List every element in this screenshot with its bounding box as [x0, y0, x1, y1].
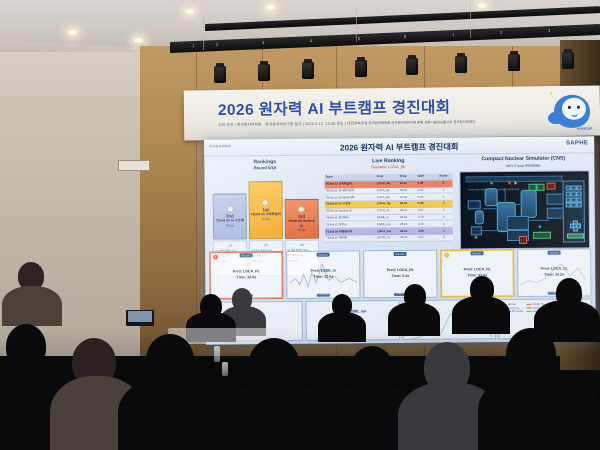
status-indicator-yellow — [514, 182, 516, 184]
cell-score: 1 — [435, 228, 453, 234]
cell-team: TEAM 07 원전AI — [325, 222, 376, 228]
detail-header: 3위 — [287, 242, 316, 246]
cell-time: 24.0s — [399, 228, 417, 234]
truss-number: 1 — [452, 32, 454, 37]
stage-light — [406, 58, 418, 75]
col-time: Time — [399, 174, 417, 180]
podium-place-third: 3rd TEAM 06 Nuclear AI 25 pts — [284, 199, 319, 239]
cell-time: 30.0s — [399, 201, 417, 207]
aux-green-box-icon — [529, 184, 537, 191]
truss-number: 5 — [358, 36, 360, 41]
lower-card[interactable]: Pred: ESDE_out Time: 2.0s — [306, 300, 400, 341]
legend-item: SGTR_Loop1 — [501, 310, 523, 313]
steam-generator-a-icon — [521, 190, 537, 218]
cell-team: TEAM 01 원자로지킴이 — [325, 188, 376, 194]
live-ranking-scenario: Scenario: LOCA_HL — [324, 165, 452, 170]
mascot-label: KORECOP — [577, 127, 592, 131]
live-ranking-table: Team Pred Time Conf Score TEAM 03 고속학습러 … — [324, 174, 453, 243]
truss-number: 2 — [216, 41, 218, 46]
aux-green-box-icon — [537, 184, 545, 191]
rank-badge: 2 — [444, 253, 449, 258]
lower-card[interactable] — [210, 301, 304, 342]
sparkline-chart — [403, 300, 495, 340]
cell-team: TEAM 11 안전제어 — [325, 215, 376, 221]
saphe-logo: SAPHE — [566, 140, 588, 146]
ceiling-downlight — [68, 30, 77, 35]
cell-score: 2 — [435, 207, 453, 213]
pressurizer-icon — [475, 210, 484, 224]
audience-shoulders — [0, 358, 76, 450]
screen-header-bar: 한국원자력학회 2026 원자력 AI 부트캠프 경진대회 SAPHE — [204, 136, 594, 156]
coolant-pipe — [527, 220, 549, 221]
cell-score: 3 — [435, 201, 453, 207]
control-button[interactable] — [577, 197, 582, 202]
card-round-tab: Round 5 — [240, 253, 253, 257]
containment-alarm-icon — [519, 236, 527, 244]
control-button[interactable] — [571, 197, 576, 202]
podium-team: TEAM 06 Nuclear AI — [286, 219, 316, 227]
live-ranking-title: Live Ranking — [324, 158, 452, 165]
stage-light — [455, 56, 467, 73]
stage-light — [562, 52, 574, 69]
prediction-card[interactable]: Round 5 2 Pred: LOCA_HL Time: 33.0s TEAM… — [440, 249, 514, 298]
podium: 2nd TEAM 09 AI 구조대 28 pts 1st TEAM 03 고속… — [212, 175, 319, 240]
card-prediction: Pred: LOCA_HL — [364, 268, 436, 273]
projection-screen: 한국원자력학회 2026 원자력 AI 부트캠프 경진대회 SAPHE Rank… — [204, 136, 596, 344]
ceiling-downlight — [134, 38, 143, 43]
cell-conf: 0.79 — [417, 214, 435, 220]
card-time: Time: 34.2s — [518, 272, 590, 277]
coolant-pipe — [505, 188, 506, 208]
cell-conf: 0.68 — [417, 228, 435, 234]
card-prediction: Pred: LOCA_HL — [441, 267, 513, 272]
stage-light — [508, 54, 520, 71]
operator-control-panel[interactable] — [562, 180, 585, 242]
coolant-pipe — [480, 230, 506, 231]
audience-shoulders — [478, 372, 600, 450]
cell-conf: 0.90 — [417, 201, 435, 207]
turbine-icon — [507, 216, 529, 230]
control-button[interactable] — [571, 185, 576, 190]
cell-time: 33.0s — [399, 181, 417, 187]
water-bottle — [222, 362, 228, 376]
truss-number: 4 — [310, 38, 312, 43]
podium-place-second: 2nd TEAM 09 AI 구조대 28 pts — [213, 193, 248, 239]
prediction-card[interactable]: Round 5 Pred: ESDE_in Time: 32.0s TEAM 0… — [286, 250, 360, 299]
cell-time: 25.0s — [399, 221, 417, 227]
alarm-box-icon — [547, 183, 556, 190]
screen-title: 2026 원자력 AI 부트캠프 경진대회 — [204, 139, 594, 154]
truss-number: 1 — [192, 42, 194, 47]
prediction-card[interactable]: Round 5 Pred: LOCA_CL Time: 34.2s TEAM 0… — [517, 248, 591, 297]
cell-team: TEAM 12 딥러닝원자력 — [325, 195, 376, 201]
audience-shoulders — [398, 382, 500, 450]
control-button[interactable] — [571, 191, 576, 196]
cell-pred: ESDE_out — [376, 221, 399, 227]
cell-time: 30.1s — [399, 208, 417, 214]
control-button[interactable] — [565, 197, 570, 202]
card-team-label: TEAM 06 — [548, 291, 561, 294]
coolant-pipe — [513, 204, 523, 205]
card-time: Time: 33.0s — [210, 275, 282, 280]
dpad-icon[interactable] — [570, 220, 579, 229]
control-button[interactable] — [565, 203, 570, 208]
wall-sign — [118, 160, 150, 171]
cell-conf: 0.72 — [417, 221, 435, 227]
col-pred: Pred — [376, 174, 399, 180]
stage-light — [214, 66, 226, 83]
ceiling-downlight — [478, 3, 487, 8]
cell-score: 2 — [435, 214, 453, 220]
control-button[interactable] — [577, 185, 582, 190]
cell-pred: SGTR_L1 — [376, 235, 399, 241]
status-indicator-green — [490, 182, 492, 184]
card-round-tab: Round 5 — [394, 252, 407, 256]
cell-time: 32.0s — [399, 187, 417, 193]
card-time: Time: 2.0s — [307, 315, 398, 320]
control-button[interactable] — [565, 191, 570, 196]
prediction-card[interactable]: Round 5 1 Pred: LOCA_HL Time: 33.0s TEAM… — [209, 251, 283, 300]
medal-icon — [226, 206, 233, 213]
cell-time: 28.0s — [399, 215, 417, 221]
cell-conf: 0.93 — [417, 194, 435, 200]
rankings-heading: Rankings Round 5/10 — [212, 159, 317, 171]
cell-score: 5 — [435, 180, 453, 186]
cell-pred: LOCA_HL — [376, 188, 399, 194]
rank-badge: 1 — [213, 255, 218, 260]
cell-score: 1 — [435, 221, 453, 227]
podium-points: 40 pts — [262, 217, 270, 221]
truss-number: 3 — [262, 40, 264, 45]
podium-place-first: 1st TEAM 03 고속학습러 40 pts — [248, 181, 283, 239]
col-conf: Conf — [417, 174, 435, 180]
cell-conf: 0.84 — [417, 208, 435, 214]
truss-number: 6 — [404, 34, 406, 39]
wall-left-lower — [0, 96, 150, 356]
truss-number: 3 — [548, 28, 550, 33]
audience-shoulders — [222, 382, 330, 450]
col-score: Score — [434, 174, 452, 180]
card-team-label: TEAM 09 — [471, 292, 484, 295]
cell-conf: 0.95 — [417, 187, 435, 193]
truss-wire — [356, 6, 357, 42]
audience-shoulders — [326, 384, 422, 450]
cell-pred: LOCA_HL — [376, 201, 399, 207]
col-team: Team — [324, 174, 375, 180]
card-time: Time: 32.0s — [287, 274, 359, 279]
stage-light — [355, 60, 367, 77]
scenario-legend: Normal LOCA_HL LOCA_CL LOCA_SG SGTR_Loop… — [501, 303, 548, 313]
cns-schematic: REACTOR CONTROL PANEL — NORMAL OPERATION — [462, 173, 587, 246]
detail-header: 1위 — [251, 243, 280, 247]
status-indicator-green — [539, 226, 541, 228]
ceiling-downlight — [185, 9, 194, 14]
rankings-round: Round 5/10 — [212, 165, 317, 171]
cell-pred: LOCA_CL — [376, 208, 399, 214]
status-indicator-green — [475, 236, 477, 238]
lower-card[interactable] — [402, 299, 496, 340]
prediction-card[interactable]: Round 5 Pred: LOCA_HL Time: 5.1s TEAM 12 — [363, 250, 437, 299]
control-button[interactable] — [577, 191, 582, 196]
card-team-label: TEAM 03 — [240, 294, 253, 297]
cns-simulator-display[interactable]: REACTOR CONTROL PANEL — NORMAL OPERATION — [459, 170, 590, 249]
coolant-pipe — [483, 208, 499, 209]
control-button-grid[interactable] — [565, 185, 582, 208]
control-button[interactable] — [571, 203, 576, 208]
photo-scene: 1 2 3 4 5 6 1 2 3 2026 원자력 AI 부트캠프 경진대회 … — [0, 0, 600, 450]
podium-points: 28 pts — [226, 223, 234, 227]
control-button[interactable] — [565, 186, 570, 191]
cell-pred: LOCA_HL — [376, 181, 399, 187]
cell-score: 0 — [435, 235, 453, 241]
cell-score: 4 — [435, 194, 453, 200]
card-time: Time: 5.1s — [364, 274, 436, 279]
medal-icon — [298, 206, 305, 213]
legend-card: Normal LOCA_HL LOCA_CL LOCA_SG SGTR_Loop… — [498, 298, 592, 339]
card-team-label: TEAM 12 — [394, 293, 407, 296]
cell-conf: 0.98 — [417, 180, 435, 186]
banner-subtitle: 주최·주관 | 한국원자력학회 · 한국원자력연구원 일시 | 2026.2.1… — [218, 121, 354, 128]
prediction-cards-row: Round 5 1 Pred: LOCA_HL Time: 33.0s TEAM… — [209, 248, 591, 299]
card-time: Time: 33.0s — [441, 273, 513, 278]
status-indicator-red — [508, 182, 510, 184]
cell-pred: ESDE_in — [376, 215, 399, 221]
legend-label: SGTR_Loop1 — [508, 310, 523, 313]
cell-pred: LOCA_HL — [376, 194, 399, 200]
execute-button[interactable] — [567, 233, 584, 239]
truss-number: 2 — [500, 30, 502, 35]
audience-shoulders — [118, 376, 224, 450]
control-button[interactable] — [577, 203, 582, 208]
simulator-title: Compact Nuclear Simulator (CNS) — [459, 155, 587, 162]
truss-wire — [203, 16, 204, 50]
cell-team: TEAM 03 고속학습러 — [324, 181, 375, 187]
stage-light — [258, 64, 270, 81]
audience-shoulders — [50, 376, 144, 450]
lower-cards-row: Pred: ESDE_out Time: 2.0s Normal LOCA_HL… — [210, 298, 592, 341]
cell-conf: 0.61 — [417, 235, 435, 241]
cell-team: TEAM 04 미래에너지 — [325, 228, 376, 234]
legend-label: SGTR_Loop2 — [533, 310, 548, 313]
stage-light — [302, 62, 314, 79]
cell-team: TEAM 09 AI 구조대 — [325, 201, 376, 207]
cell-pred: LOCA_SG — [376, 228, 399, 234]
card-prediction: Pred: ESDE_in — [287, 268, 359, 273]
generator-box-icon — [533, 232, 551, 239]
cell-team: TEAM 06 Nuclear AI — [325, 208, 376, 214]
banner-sponsor-logos: 주최/주관 한국원자력학회 한국원자력연구원 후원 과학기술정보통신부 한국원자… — [354, 119, 475, 125]
event-banner: 2026 원자력 AI 부트캠프 경진대회 주최·주관 | 한국원자력학회 · … — [184, 85, 600, 140]
card-prediction: Pred: ESDE_out — [307, 309, 398, 314]
card-team-label: TEAM 01 — [317, 293, 330, 296]
cell-time: 22.0s — [399, 235, 417, 241]
simulator-subtitle: WH-3 loop 990MWe — [459, 163, 587, 168]
card-prediction: Pred: LOCA_HL — [210, 269, 282, 274]
medal-icon — [262, 200, 269, 207]
card-prediction: Pred: LOCA_CL — [518, 266, 590, 271]
cell-score: 4 — [435, 187, 453, 193]
table-row: TEAM 15 제어봉 SGTR_L1 22.0s 0.61 0 — [325, 235, 453, 243]
detail-header: 2위 — [216, 243, 245, 247]
cell-team: TEAM 15 제어봉 — [325, 235, 376, 241]
cell-time: 31.0s — [399, 194, 417, 200]
podium-points: 25 pts — [298, 227, 306, 231]
ceiling-downlight — [266, 5, 275, 10]
mascot-character-icon: ✦ ✦ KORECOP — [548, 88, 595, 133]
card-round-tab: Round 5 — [471, 251, 484, 255]
steam-generator-b-icon — [485, 188, 498, 206]
legend-item: SGTR_Loop2 — [526, 310, 548, 313]
panel-box-icon — [468, 200, 481, 209]
truss-wire — [470, 2, 471, 38]
banner-title: 2026 원자력 AI 부트캠프 경진대회 — [218, 95, 451, 120]
